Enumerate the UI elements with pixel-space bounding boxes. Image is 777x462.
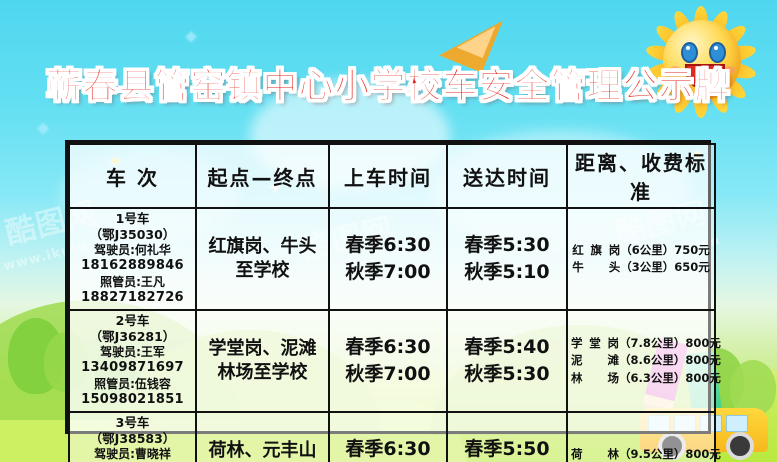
bus-wheel [726, 432, 754, 460]
cell-route: 红旗岗、牛头至学校 [196, 208, 329, 310]
attendant-name: 照管员:王凡 [73, 275, 192, 290]
bus-schedule-table-container: 车 次 起点—终点 上车时间 送达时间 距离、收费标准 1号车（鄂J35030）… [65, 140, 711, 434]
header-bus-number: 车 次 [69, 144, 196, 208]
fee-place-name: 泥 滩 [571, 352, 619, 369]
cell-route: 荷林、元丰山至学校 [196, 412, 329, 462]
table-row: 2号车（鄂J36281）驾驶员:王军13409871697照管员:伍钱容1509… [69, 310, 715, 412]
attendant-phone: 18827182726 [73, 290, 192, 307]
fee-distance: （8.6公里） [619, 353, 685, 367]
bus-number: 1号车 [73, 211, 192, 227]
bus-number: 2号车 [73, 313, 192, 329]
cell-board-time: 春季6:30秋季7:00 [329, 208, 447, 310]
table-row: 1号车（鄂J35030）驾驶员:何礼华18162889846照管员:王凡1882… [69, 208, 715, 310]
table-header-row: 车 次 起点—终点 上车时间 送达时间 距离、收费标准 [69, 144, 715, 208]
cell-distance-fee: 红旗岗（6公里）750元牛 头（3公里）650元 [567, 208, 715, 310]
bus-window [726, 415, 748, 432]
time-line: 春季6:30 [333, 334, 443, 361]
fee-line: 林 场（6.3公里）800元 [571, 370, 711, 387]
fee-price: 650元 [674, 260, 710, 274]
time-line: 秋季7:00 [333, 361, 443, 388]
cell-bus-info: 2号车（鄂J36281）驾驶员:王军13409871697照管员:伍钱容1509… [69, 310, 196, 412]
cell-distance-fee: 学堂岗（7.8公里）800元泥 滩（8.6公里）800元林 场（6.3公里）80… [567, 310, 715, 412]
fee-price: 800元 [685, 353, 721, 367]
header-drop-time: 送达时间 [447, 144, 567, 208]
bus-plate: （鄂J38583） [73, 431, 192, 447]
page-title: 蕲春县管窑镇中心小学校车安全管理公示牌 [0, 58, 777, 109]
fee-distance: （6公里） [620, 243, 674, 257]
time-line: 秋季7:00 [333, 259, 443, 286]
fee-place-name: 荷 林 [571, 446, 619, 462]
table-row: 3号车（鄂J38583）驾驶员:曹晓祥18972728306照管员:管小桂150… [69, 412, 715, 462]
header-distance-fee: 距离、收费标准 [567, 144, 715, 208]
header-board-time: 上车时间 [329, 144, 447, 208]
fee-distance: （7.8公里） [619, 336, 685, 350]
fee-line: 红旗岗（6公里）750元 [571, 242, 711, 259]
driver-name: 驾驶员:何礼华 [73, 243, 192, 258]
fee-price: 800元 [685, 336, 721, 350]
fee-line: 牛 头（3公里）650元 [571, 259, 711, 276]
attendant-phone: 15098021851 [73, 392, 192, 409]
sparkle-star-icon: ✦ [184, 28, 198, 48]
fee-price: 750元 [674, 243, 710, 257]
time-line: 春季5:50 [451, 436, 563, 462]
driver-name: 驾驶员:曹晓祥 [73, 447, 192, 462]
fee-price: 800元 [685, 447, 721, 461]
fee-distance: （3公里） [620, 260, 674, 274]
sparkle-star-icon: ✦ [36, 120, 50, 140]
fee-place-name: 林 场 [571, 370, 619, 387]
fee-line: 荷 林（9.5公里）800元 [571, 446, 711, 462]
cell-distance-fee: 荷 林（9.5公里）800元元丰山（7.5公里）800元 [567, 412, 715, 462]
driver-phone: 18162889846 [73, 258, 192, 275]
fee-price: 800元 [685, 371, 721, 385]
table-body: 1号车（鄂J35030）驾驶员:何礼华18162889846照管员:王凡1882… [69, 208, 715, 462]
fee-place-name: 牛 头 [572, 259, 620, 276]
cell-route: 学堂岗、泥滩林场至学校 [196, 310, 329, 412]
header-route: 起点—终点 [196, 144, 329, 208]
time-line: 春季6:30 [333, 436, 443, 462]
cell-drop-time: 春季5:40秋季5:30 [447, 310, 567, 412]
bus-number: 3号车 [73, 415, 192, 431]
route-line: 荷林、元丰山 [200, 439, 325, 462]
driver-name: 驾驶员:王军 [73, 345, 192, 360]
cell-bus-info: 3号车（鄂J38583）驾驶员:曹晓祥18972728306照管员:管小桂150… [69, 412, 196, 462]
attendant-name: 照管员:伍钱容 [73, 377, 192, 392]
bus-schedule-table: 车 次 起点—终点 上车时间 送达时间 距离、收费标准 1号车（鄂J35030）… [68, 143, 716, 462]
fee-place-name: 红旗岗 [572, 242, 620, 259]
time-line: 秋季5:10 [451, 259, 563, 286]
route-line: 林场至学校 [200, 361, 325, 385]
cell-drop-time: 春季5:50秋季5:30 [447, 412, 567, 462]
fee-distance: （9.5公里） [619, 447, 685, 461]
cell-bus-info: 1号车（鄂J35030）驾驶员:何礼华18162889846照管员:王凡1882… [69, 208, 196, 310]
time-line: 春季5:30 [451, 232, 563, 259]
time-line: 春季6:30 [333, 232, 443, 259]
school-bus-notice-poster: ✦ ✦ ✦ ✦ ✦ ✦ 酷图网 www.ikutu.cn 酷图网 www.iku… [0, 0, 777, 462]
cell-board-time: 春季6:30秋季7:00 [329, 310, 447, 412]
fee-place-name: 学堂岗 [571, 335, 619, 352]
cell-board-time: 春季6:30秋季6:50 [329, 412, 447, 462]
fee-line: 泥 滩（8.6公里）800元 [571, 352, 711, 369]
driver-phone: 13409871697 [73, 360, 192, 377]
bus-plate: （鄂J36281） [73, 329, 192, 345]
time-line: 秋季5:30 [451, 361, 563, 388]
cell-drop-time: 春季5:30秋季5:10 [447, 208, 567, 310]
fee-distance: （6.3公里） [619, 371, 685, 385]
route-line: 学堂岗、泥滩 [200, 337, 325, 361]
fee-line: 学堂岗（7.8公里）800元 [571, 335, 711, 352]
route-line: 红旗岗、牛头 [200, 235, 325, 259]
route-line: 至学校 [200, 259, 325, 283]
bus-plate: （鄂J35030） [73, 227, 192, 243]
time-line: 春季5:40 [451, 334, 563, 361]
